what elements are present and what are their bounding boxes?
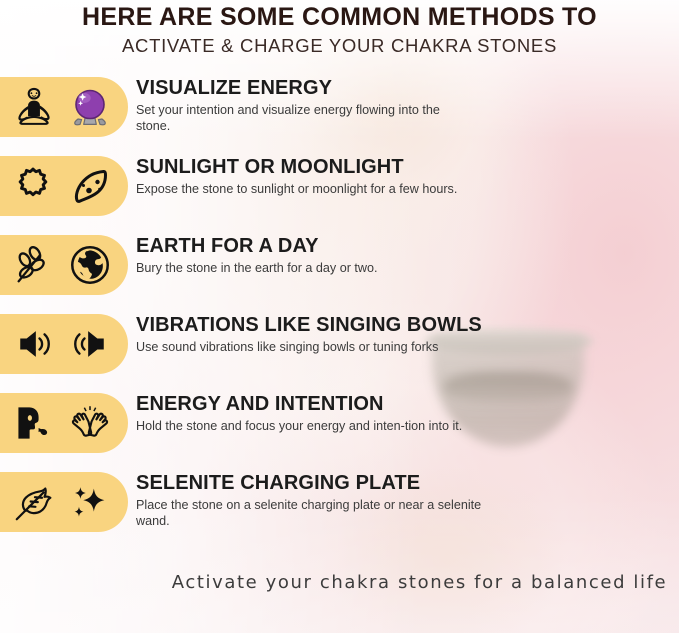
method-text: SELENITE CHARGING PLATE Place the stone … <box>128 472 486 529</box>
method-text: VISUALIZE ENERGY Set your intention and … <box>128 77 466 134</box>
method-row: SUNLIGHT OR MOONLIGHT Expose the stone t… <box>0 156 679 216</box>
speaker-right-icon <box>12 322 56 366</box>
crescent-moon-icon <box>65 162 113 210</box>
icon-pill <box>0 472 128 532</box>
feather-quill-icon <box>11 479 57 525</box>
method-row: SELENITE CHARGING PLATE Place the stone … <box>0 472 679 532</box>
method-title: SELENITE CHARGING PLATE <box>136 473 486 494</box>
method-title: SUNLIGHT OR MOONLIGHT <box>136 157 457 178</box>
method-description: Place the stone on a selenite charging p… <box>136 497 486 529</box>
method-row: VIBRATIONS LIKE SINGING BOWLS Use sound … <box>0 314 679 374</box>
method-description: Set your intention and visualize energy … <box>136 102 466 134</box>
page-title: HERE ARE SOME COMMON METHODS TO <box>0 4 679 31</box>
globe-icon <box>67 242 113 288</box>
header: HERE ARE SOME COMMON METHODS TO ACTIVATE… <box>0 0 679 56</box>
method-row: ENERGY AND INTENTION Hold the stone and … <box>0 393 679 453</box>
methods-list: VISUALIZE ENERGY Set your intention and … <box>0 77 679 532</box>
method-text: VIBRATIONS LIKE SINGING BOWLS Use sound … <box>128 314 482 355</box>
blowing-face-icon <box>12 401 56 445</box>
method-description: Use sound vibrations like singing bowls … <box>136 339 482 355</box>
method-text: ENERGY AND INTENTION Hold the stone and … <box>128 393 462 434</box>
method-description: Bury the stone in the earth for a day or… <box>136 260 378 276</box>
method-title: VISUALIZE ENERGY <box>136 78 466 99</box>
footer-tagline: Activate your chakra stones for a balanc… <box>12 572 667 593</box>
icon-pill <box>0 156 128 216</box>
method-title: VIBRATIONS LIKE SINGING BOWLS <box>136 315 482 336</box>
icon-pill <box>0 77 128 137</box>
chakra-methods-infographic: HERE ARE SOME COMMON METHODS TO ACTIVATE… <box>0 0 679 633</box>
method-text: EARTH FOR A DAY Bury the stone in the ea… <box>128 235 378 276</box>
method-description: Hold the stone and focus your energy and… <box>136 418 462 434</box>
icon-pill <box>0 235 128 295</box>
speaker-left-icon <box>68 322 112 366</box>
sun-icon <box>11 164 55 208</box>
icon-pill <box>0 393 128 453</box>
method-title: ENERGY AND INTENTION <box>136 394 462 415</box>
method-text: SUNLIGHT OR MOONLIGHT Expose the stone t… <box>128 156 457 197</box>
footer: Activate your chakra stones for a balanc… <box>0 572 679 593</box>
crystal-ball-icon <box>66 83 114 131</box>
method-title: EARTH FOR A DAY <box>136 236 378 257</box>
sparkles-icon <box>67 479 113 525</box>
open-hands-icon <box>67 400 113 446</box>
meditating-person-icon <box>11 84 57 130</box>
icon-pill <box>0 314 128 374</box>
method-description: Expose the stone to sunlight or moonligh… <box>136 181 457 197</box>
method-row: VISUALIZE ENERGY Set your intention and … <box>0 77 679 137</box>
leaf-branch-icon <box>11 242 57 288</box>
page-subtitle: ACTIVATE & CHARGE YOUR CHAKRA STONES <box>0 36 679 56</box>
method-row: EARTH FOR A DAY Bury the stone in the ea… <box>0 235 679 295</box>
